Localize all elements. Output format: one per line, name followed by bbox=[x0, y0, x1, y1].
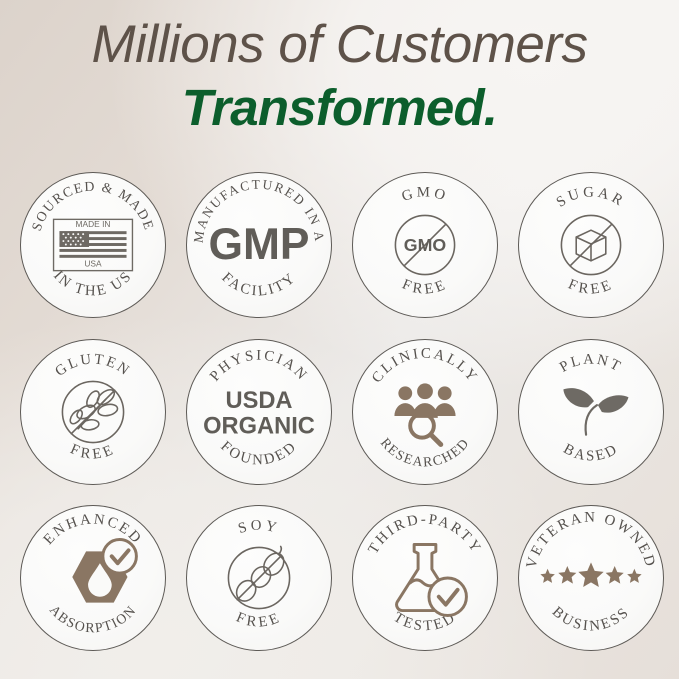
badge-top-text: SUGAR bbox=[554, 185, 629, 211]
badge-bottom-text: FREE bbox=[234, 609, 284, 630]
badge-bottom-text: FREE bbox=[566, 276, 616, 297]
badge-grid: SOURCED & MADE IN THE US MADE IN USA bbox=[0, 172, 679, 679]
badge-gluten-free[interactable]: GLUTEN FREE bbox=[20, 339, 166, 485]
star-2 bbox=[558, 566, 576, 584]
badge-bottom-text: FOUNDED bbox=[217, 438, 300, 468]
gmp-text-icon: GMP bbox=[208, 220, 309, 269]
badge-bottom-text: ABSORPTION bbox=[47, 602, 139, 635]
badge-top-text: VETERAN OWNED bbox=[524, 510, 659, 570]
badge-third-party-tested[interactable]: THIRD-PARTY TESTED bbox=[352, 505, 498, 651]
badge-top-text: PHYSICIAN bbox=[207, 348, 311, 385]
flag-top-label: MADE IN bbox=[76, 219, 111, 229]
no-sugar-cube-icon bbox=[561, 215, 620, 274]
badge-top-text: THIRD-PARTY bbox=[365, 512, 484, 557]
badge-bottom-text: FREE bbox=[68, 441, 118, 463]
badge-gmp-facility[interactable]: MANUFACTURED IN A FACILITY GMP bbox=[186, 172, 332, 318]
badge-top-text: SOY bbox=[236, 518, 281, 538]
usa-flag-icon: MADE IN USA bbox=[54, 219, 133, 270]
headline-primary: Millions of Customers bbox=[0, 14, 679, 76]
badge-clinically-researched[interactable]: CLINICALLY RESEARCHED bbox=[352, 339, 498, 485]
badge-bottom-text: FREE bbox=[400, 276, 450, 297]
hexagon-droplet-check-icon bbox=[72, 540, 136, 603]
usda-label: USDA bbox=[225, 388, 292, 414]
badge-top-text: CLINICALLY bbox=[369, 346, 481, 386]
badge-sugar-free[interactable]: SUGAR FREE bbox=[518, 172, 664, 318]
badge-bottom-text: FACILITY bbox=[218, 270, 299, 300]
header: Millions of Customers Transformed. bbox=[0, 0, 679, 160]
badge-sourced-made-in-the-us[interactable]: SOURCED & MADE IN THE US MADE IN USA bbox=[20, 172, 166, 318]
star-5 bbox=[627, 569, 641, 583]
badge-bottom-text: IN THE US bbox=[50, 268, 136, 300]
badge-bottom-text: BUSINESS bbox=[549, 604, 633, 635]
headline-accent: Transformed. bbox=[0, 78, 679, 138]
badge-top-text: PLANT bbox=[557, 352, 625, 376]
five-stars-icon bbox=[540, 562, 641, 587]
badge-top-text: GMO bbox=[400, 185, 450, 205]
gmo-center-text: GMO bbox=[404, 235, 447, 255]
badge-enhanced-absorption[interactable]: ENHANCED ABSORPTION bbox=[20, 505, 166, 651]
sprout-leaves-icon bbox=[563, 388, 628, 435]
star-3 bbox=[578, 562, 603, 587]
star-1 bbox=[540, 569, 554, 583]
no-wheat-icon bbox=[62, 381, 123, 442]
people-magnifier-icon bbox=[394, 383, 455, 444]
badge-bottom-text: BASED bbox=[561, 441, 622, 464]
badge-veteran-owned-business[interactable]: VETERAN OWNED BUSINESS bbox=[518, 505, 664, 651]
badge-gmo-free[interactable]: GMO FREE GMO bbox=[352, 172, 498, 318]
badge-wall: Millions of Customers Transformed. SOURC… bbox=[0, 0, 679, 679]
badge-usda-organic[interactable]: PHYSICIAN FOUNDED USDA ORGANIC bbox=[186, 339, 332, 485]
badge-bottom-text: RESEARCHED bbox=[378, 435, 473, 470]
no-soybean-icon bbox=[228, 546, 289, 608]
badge-soy-free[interactable]: SOY FREE bbox=[186, 505, 332, 651]
badge-plant-based[interactable]: PLANT BASED bbox=[518, 339, 664, 485]
flag-bottom-label: USA bbox=[84, 259, 102, 269]
star-4 bbox=[606, 566, 624, 584]
flask-check-icon bbox=[397, 544, 467, 615]
badge-top-text: GLUTEN bbox=[52, 351, 133, 380]
organic-label: ORGANIC bbox=[203, 414, 315, 440]
